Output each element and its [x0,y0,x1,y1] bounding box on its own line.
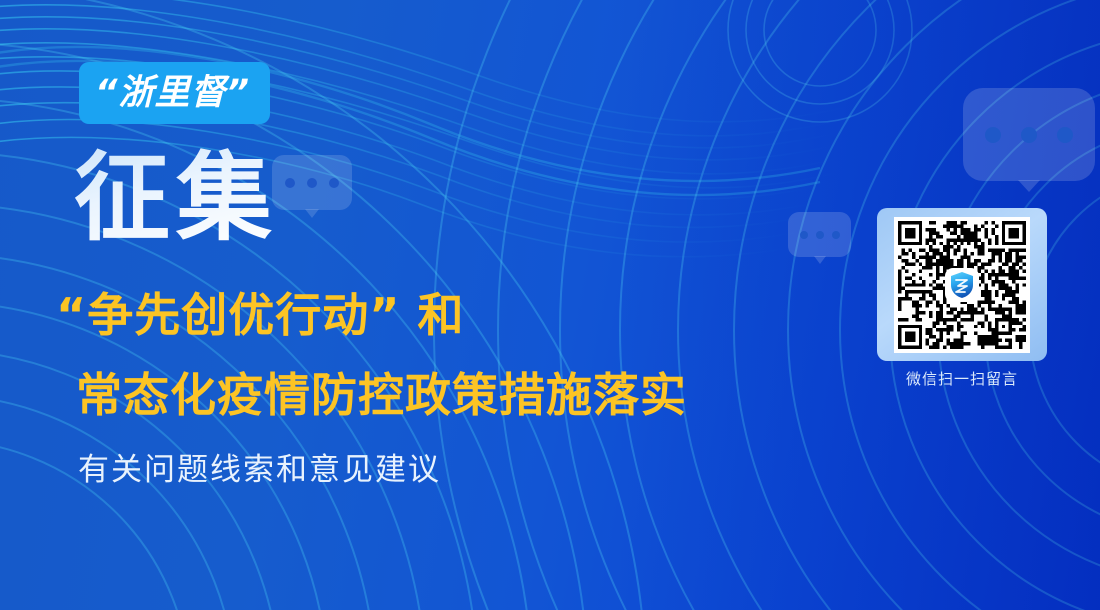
bubble-dot [832,231,840,239]
banner-subtitle: 有关问题线索和意见建议 [78,452,441,489]
bubble-dots [272,155,352,210]
page-title-collection: 征集 [74,148,278,249]
program-badge-label: “浙里督” [95,76,250,111]
bubble-dot [800,231,808,239]
bubble-dots [963,88,1095,181]
chat-bubble-small-icon [272,155,352,210]
bubble-dot [307,178,317,188]
bubble-dots [788,212,851,257]
bubble-dot [1057,127,1073,143]
bubble-tail [814,256,826,264]
qr-code-image[interactable] [894,217,1030,353]
promo-banner: “浙里督” 征集 “争先创优行动” 和 常态化疫情防控政策措施落实 有关问题线索… [0,0,1100,610]
headline-gold-line-1: “争先创优行动” 和 [56,290,464,341]
bubble-dot [329,178,339,188]
shield-glyph [949,271,975,299]
chat-bubble-large-icon [963,88,1095,181]
bubble-tail [305,209,319,218]
headline-gold-line-2: 常态化疫情防控政策措施落实 [76,370,687,421]
bubble-dot [285,178,295,188]
bubble-tail [1018,180,1040,192]
shield-logo-icon [945,268,979,302]
bubble-dot [816,231,824,239]
program-badge: “浙里督” [79,62,270,124]
bubble-dot [1021,127,1037,143]
bubble-dot [985,127,1001,143]
chat-bubble-medium-icon [788,212,851,257]
qr-code-caption: 微信扫一扫留言 [877,368,1047,389]
qr-code-panel[interactable] [877,208,1047,361]
